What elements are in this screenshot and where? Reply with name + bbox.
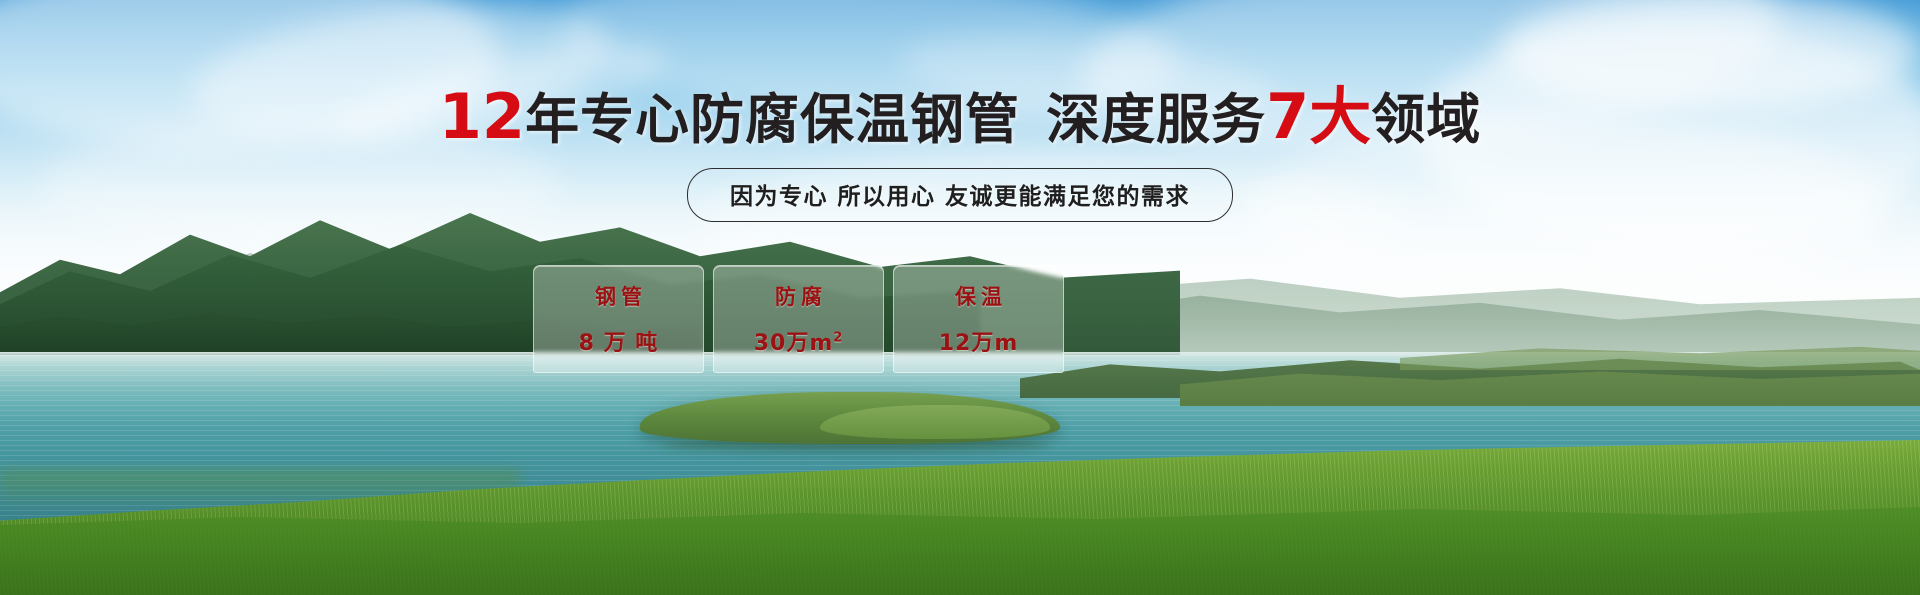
banner-content: 12年专心防腐保温钢管深度服务7大领域 因为专心 所以用心 友诚更能满足您的需求… [0,0,1920,595]
stat-cards: 钢管 8 万 吨 防腐 30万m2 保温 12万m [533,265,1064,373]
headline-text-secondary: 深度服务 [1046,88,1266,151]
stat-card-title: 防腐 [770,281,827,311]
stat-card-value-main: 12万m [939,331,1019,356]
stat-card-title: 保温 [950,281,1007,311]
stat-card-value: 12万m [939,325,1019,357]
stat-card: 防腐 30万m2 [713,265,884,373]
headline-fields-number: 7 [1266,80,1309,153]
headline-fields-unit: 大 [1309,80,1371,153]
stat-card-value-main: 8 万 吨 [579,331,659,356]
stat-card-value-main: 30万m [754,331,834,356]
headline-text-primary: 年专心防腐保温钢管 [525,88,1020,151]
stat-card: 保温 12万m [893,265,1064,373]
headline-text-tertiary: 领域 [1371,88,1481,151]
subtitle-container: 因为专心 所以用心 友诚更能满足您的需求 [0,168,1920,222]
stat-card-value: 30万m2 [754,325,844,357]
stat-card-value-superscript: 2 [833,331,843,346]
stat-card: 钢管 8 万 吨 [533,265,704,373]
subtitle-pill: 因为专心 所以用心 友诚更能满足您的需求 [687,168,1233,222]
stat-card-value: 8 万 吨 [579,325,659,357]
stat-card-title: 钢管 [590,281,647,311]
hero-banner: 12年专心防腐保温钢管深度服务7大领域 因为专心 所以用心 友诚更能满足您的需求… [0,0,1920,595]
headline: 12年专心防腐保温钢管深度服务7大领域 [0,86,1920,148]
headline-years-number: 12 [439,80,525,153]
